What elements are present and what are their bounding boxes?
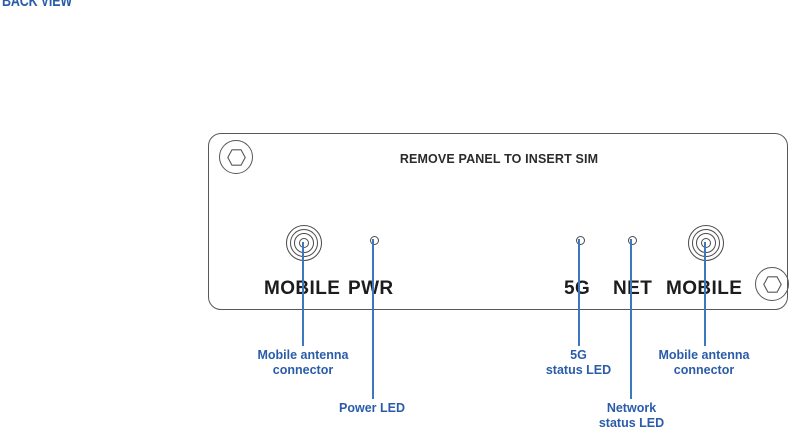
callout-line-1: Mobile antenna <box>247 348 359 363</box>
antenna-connector-mobile-left <box>286 225 322 261</box>
callout-line-1: Mobile antenna <box>648 348 760 363</box>
callout-mobile-antenna-left: Mobile antenna connector <box>247 348 359 378</box>
callout-line-2: status LED <box>533 363 624 378</box>
callout-line-1: Network <box>586 401 677 416</box>
callout-line-1: 5G <box>533 348 624 363</box>
diagram-canvas: BACK VIEW REMOVE PANEL TO INSERT SIM <box>0 0 800 431</box>
callout-line-2: status LED <box>586 416 677 431</box>
silkscreen-net: NET <box>613 279 652 298</box>
hex-screw-icon <box>219 140 253 174</box>
leader-line-5g-status-led <box>578 239 580 346</box>
callout-line-2: connector <box>247 363 359 378</box>
silkscreen-pwr: PWR <box>348 279 394 298</box>
leader-line-mobile-antenna-right <box>704 242 706 346</box>
callout-mobile-antenna-right: Mobile antenna connector <box>648 348 760 378</box>
callout-line-1: Power LED <box>330 401 414 416</box>
panel-caption: REMOVE PANEL TO INSERT SIM <box>209 152 789 166</box>
section-title: BACK VIEW <box>2 0 72 11</box>
hex-screw-icon <box>755 267 789 301</box>
hexagon-icon <box>227 149 246 166</box>
connector-pin <box>701 238 711 248</box>
leader-line-mobile-antenna-left <box>302 242 304 346</box>
antenna-connector-mobile-right <box>688 225 724 261</box>
hexagon-icon <box>763 276 782 293</box>
leader-line-network-status-led <box>630 239 632 399</box>
connector-pin <box>299 238 309 248</box>
device-back-panel: REMOVE PANEL TO INSERT SIM <box>208 133 788 310</box>
callout-network-status-led: Network status LED <box>586 401 677 431</box>
callout-power-led: Power LED <box>330 401 414 416</box>
callout-line-2: connector <box>648 363 760 378</box>
callout-5g-status-led: 5G status LED <box>533 348 624 378</box>
leader-line-power-led <box>372 239 374 399</box>
